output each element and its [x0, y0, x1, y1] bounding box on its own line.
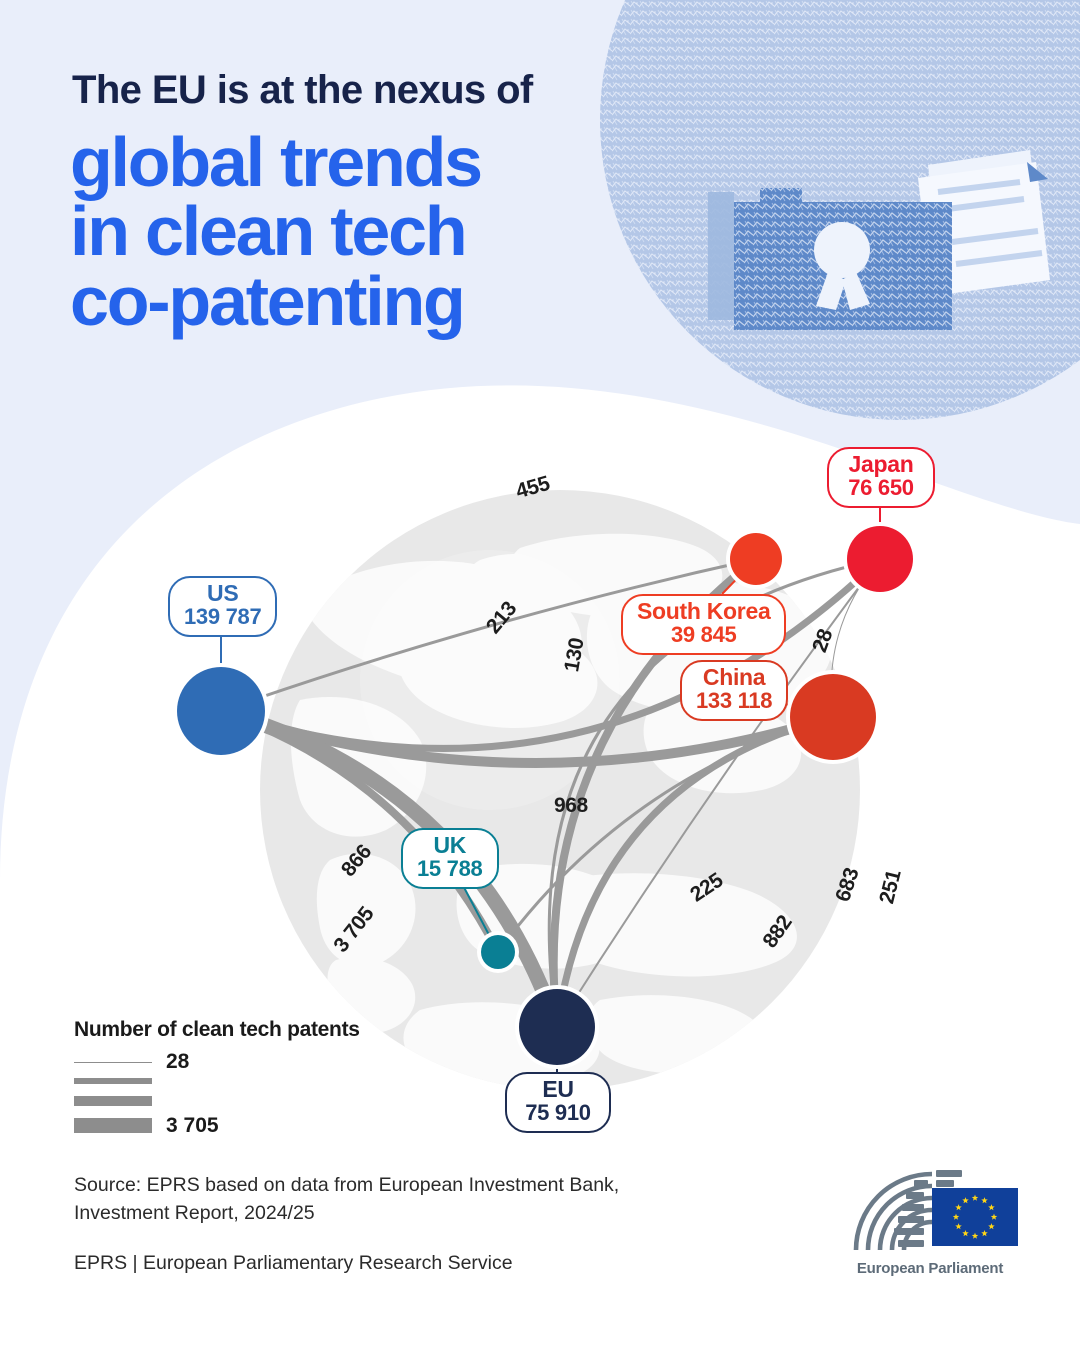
source-note: Source: EPRS based on data from European… — [74, 1172, 634, 1227]
infographic-canvas: The EU is at the nexus of global trends … — [0, 0, 1080, 1350]
legend-line-swatch — [74, 1096, 152, 1106]
edge-value-us-eu: 3 705 — [329, 903, 379, 958]
legend-row: 28 — [74, 1052, 414, 1072]
legend-row — [74, 1090, 414, 1112]
edge-label-layer: 455213130289688663 705225882683251 — [0, 0, 1080, 1350]
ep-logo-text: European Parliament — [840, 1260, 1020, 1277]
edge-value-uk-china: 225 — [686, 869, 727, 908]
legend-row: 3 705 — [74, 1112, 414, 1139]
legend-line-swatch — [74, 1078, 152, 1084]
edge-value-eu-china: 683 — [831, 865, 864, 905]
legend-title: Number of clean tech patents — [74, 1018, 414, 1042]
legend: Number of clean tech patents 283 705 — [74, 1018, 414, 1139]
edge-value-eu-japan: 251 — [875, 868, 906, 907]
edge-value-us-china: 968 — [554, 794, 588, 818]
byline: EPRS | European Parliamentary Research S… — [74, 1252, 694, 1275]
legend-rows: 283 705 — [74, 1052, 414, 1139]
legend-row — [74, 1072, 414, 1090]
legend-line-swatch — [74, 1062, 152, 1063]
edge-value-japan-china: 28 — [808, 626, 838, 655]
european-parliament-logo: European Parliament — [840, 1162, 1020, 1290]
legend-max-value: 3 705 — [166, 1114, 219, 1138]
legend-min-value: 28 — [166, 1050, 189, 1074]
edge-value-us-uk: 866 — [337, 840, 377, 881]
legend-line-swatch — [74, 1118, 152, 1133]
edge-value-eu-japan: 130 — [560, 636, 590, 673]
edge-value-us-southkorea: 213 — [482, 597, 522, 638]
ep-hemicycle-icon — [840, 1162, 1020, 1258]
edge-value-eu-southkorea: 882 — [758, 911, 797, 952]
edge-value-us-japan: 455 — [513, 472, 552, 504]
